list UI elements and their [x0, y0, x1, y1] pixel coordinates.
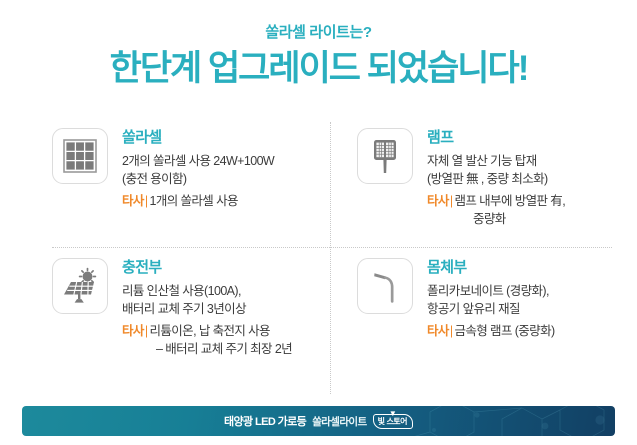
street-lamp-head-icon [357, 128, 413, 184]
page-title: 한단계 업그레이드 되었습니다! [0, 51, 637, 88]
feature-description-line: 리튬 인산철 사용(100A), [122, 282, 292, 301]
footer-content: 태양광 LED 가로등 쏠라셀라이트 ▼ 빛 스토어 [224, 413, 413, 429]
feature-title: 몸체부 [427, 259, 555, 278]
rival-text: – 배터리 교체 주기 최장 2년 [122, 340, 292, 359]
lamp-post-icon [357, 258, 413, 314]
rival-separator: | [450, 324, 453, 338]
feature-grid: 쏠라셀 2개의 쏠라셀 사용 24W+100W (충전 용이함) 타사|1개의 … [0, 118, 637, 402]
footer-title-strong: 태양광 LED 가로등 [224, 413, 306, 429]
solar-panel-icon [52, 128, 108, 184]
feature-description-line: 배터리 교체 주기 3년이상 [122, 300, 292, 319]
feature-item-lamp: 램프 자체 열 발산 기능 탑재 (방열판 無 , 중량 최소화) 타사|램프 … [357, 128, 637, 229]
rival-text: 1개의 쏠라셀 사용 [149, 194, 237, 208]
rival-text: 중량화 [427, 210, 565, 229]
rival-separator: | [450, 194, 453, 208]
feature-item-charging-unit: 충전부 리튬 인산철 사용(100A), 배터리 교체 주기 3년이상 타사|리… [52, 258, 340, 359]
logo-text-primary: 빛 [378, 416, 385, 427]
horizontal-divider [52, 247, 612, 248]
feature-description: 폴리카보네이트 (경량화), 항공기 앞유리 재질 [427, 282, 555, 319]
rival-separator: | [145, 194, 148, 208]
rival-text: 램프 내부에 방열판 有, [454, 194, 565, 208]
footer-title-light: 쏠라셀라이트 [312, 414, 366, 429]
rival-text: 금속형 램프 (중량화) [454, 324, 554, 338]
feature-text: 램프 자체 열 발산 기능 탑재 (방열판 無 , 중량 최소화) 타사|램프 … [427, 128, 565, 229]
feature-text: 충전부 리튬 인산철 사용(100A), 배터리 교체 주기 3년이상 타사|리… [122, 258, 292, 359]
feature-description-line: 자체 열 발산 기능 탑재 [427, 152, 565, 171]
solar-array-sun-icon [52, 258, 108, 314]
rival-separator: | [145, 324, 148, 338]
header: 쏠라셀 라이트는? 한단계 업그레이드 되었습니다! [0, 0, 637, 88]
feature-description-line: 2개의 쏠라셀 사용 24W+100W [122, 152, 274, 171]
infographic-page: 쏠라셀 라이트는? 한단계 업그레이드 되었습니다! [0, 0, 637, 445]
rival-tag: 타사 [427, 324, 449, 338]
feature-text: 쏠라셀 2개의 쏠라셀 사용 24W+100W (충전 용이함) 타사|1개의 … [122, 128, 274, 210]
rival-tag: 타사 [122, 324, 144, 338]
feature-description-line: (방열판 無 , 중량 최소화) [427, 170, 565, 189]
rival-tag: 타사 [427, 194, 449, 208]
brand-logo: ▼ 빛 스토어 [373, 414, 413, 429]
feature-description-line: 폴리카보네이트 (경량화), [427, 282, 555, 301]
rival-comparison: 타사|램프 내부에 방열판 有, 중량화 [427, 192, 565, 229]
feature-description: 2개의 쏠라셀 사용 24W+100W (충전 용이함) [122, 152, 274, 189]
feature-description-line: (충전 용이함) [122, 170, 274, 189]
feature-description: 리튬 인산철 사용(100A), 배터리 교체 주기 3년이상 [122, 282, 292, 319]
rival-comparison: 타사|리튬이온, 납 축전지 사용 – 배터리 교체 주기 최장 2년 [122, 322, 292, 359]
feature-text: 몸체부 폴리카보네이트 (경량화), 항공기 앞유리 재질 타사|금속형 램프 … [427, 258, 555, 340]
feature-description: 자체 열 발산 기능 탑재 (방열판 無 , 중량 최소화) [427, 152, 565, 189]
feature-item-solar-cell: 쏠라셀 2개의 쏠라셀 사용 24W+100W (충전 용이함) 타사|1개의 … [52, 128, 340, 210]
feature-title: 충전부 [122, 259, 292, 278]
feature-item-body: 몸체부 폴리카보네이트 (경량화), 항공기 앞유리 재질 타사|금속형 램프 … [357, 258, 637, 340]
feature-title: 쏠라셀 [122, 129, 274, 148]
rival-tag: 타사 [122, 194, 144, 208]
page-subtitle: 쏠라셀 라이트는? [0, 24, 637, 42]
feature-title: 램프 [427, 129, 565, 148]
rival-text: 리튬이온, 납 축전지 사용 [149, 324, 270, 338]
rival-comparison: 타사|금속형 램프 (중량화) [427, 322, 555, 341]
footer-bar: 태양광 LED 가로등 쏠라셀라이트 ▼ 빛 스토어 [22, 406, 615, 436]
rival-comparison: 타사|1개의 쏠라셀 사용 [122, 192, 274, 211]
feature-description-line: 항공기 앞유리 재질 [427, 300, 555, 319]
logo-mark-icon: ▼ [389, 410, 397, 418]
